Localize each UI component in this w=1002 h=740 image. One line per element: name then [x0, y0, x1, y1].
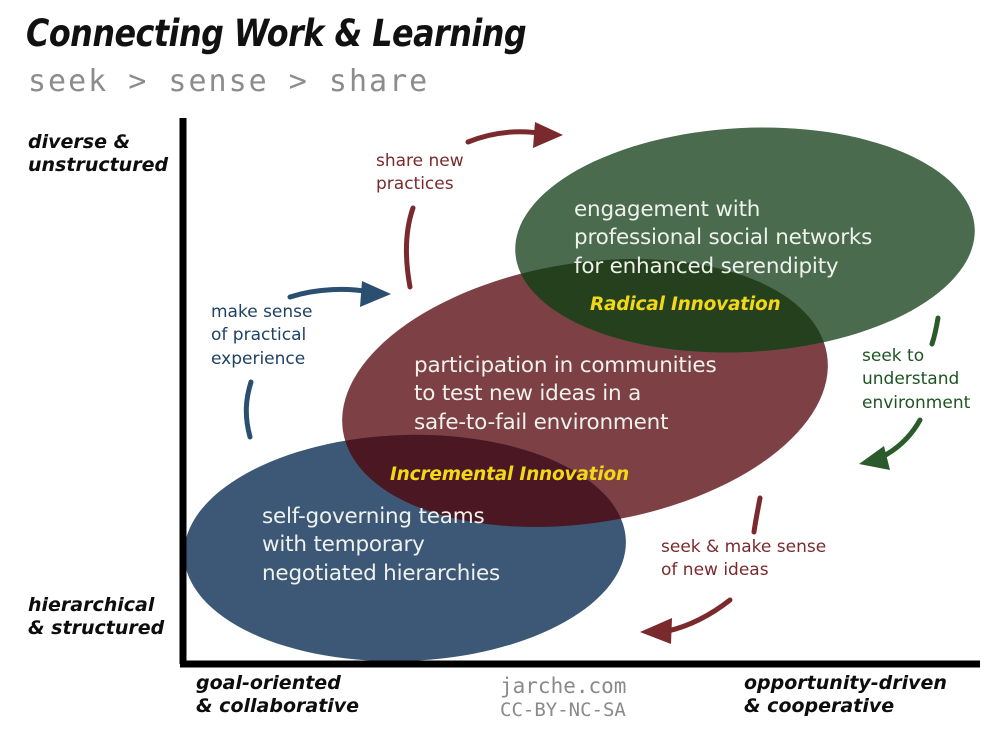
red-bubble-line-1: participation in communities: [414, 352, 716, 380]
y-axis-top-line-1: diverse &: [28, 131, 168, 154]
annotation-share-line-2: practices: [376, 173, 464, 196]
annotation-makesense-line-3: experience: [211, 348, 313, 371]
y-axis-bottom-label: hierarchical & structured: [28, 594, 164, 640]
blue-bubble-text: self-governing teams with temporary nego…: [262, 503, 500, 588]
x-axis-left-line-1: goal-oriented: [196, 672, 359, 695]
x-axis-right-line-2: & cooperative: [744, 695, 947, 718]
blue-bubble-line-3: negotiated hierarchies: [262, 560, 500, 588]
annotation-share-line-1: share new: [376, 150, 464, 173]
annotation-share-new-practices: share new practices: [376, 150, 464, 197]
annotation-makesense-line-1: make sense: [211, 301, 313, 324]
credit-license: CC-BY-NC-SA: [500, 699, 626, 723]
annotation-seekmake-line-1: seek & make sense: [661, 536, 826, 559]
annotation-seekunder-line-2: understand: [862, 368, 970, 391]
annotation-seekunder-line-1: seek to: [862, 345, 970, 368]
credit-block: jarche.com CC-BY-NC-SA: [500, 673, 626, 723]
diagram-canvas: Connecting Work & Learning seek > sense …: [0, 0, 1002, 740]
red-bubble-line-3: safe-to-fail environment: [414, 409, 716, 437]
annotation-seekunder-line-3: environment: [862, 392, 970, 415]
credit-site[interactable]: jarche.com: [500, 673, 626, 699]
blue-bubble-line-1: self-governing teams: [262, 503, 500, 531]
x-axis-left-line-2: & collaborative: [196, 695, 359, 718]
x-axis-right-label: opportunity-driven & cooperative: [744, 672, 947, 718]
annotation-seek-and-make-sense-of-new-ideas: seek & make sense of new ideas: [661, 536, 826, 583]
green-bubble-line-1: engagement with: [574, 196, 872, 224]
green-bubble-line-3: for enhanced serendipity: [574, 253, 872, 281]
y-axis-bottom-line-2: & structured: [28, 617, 164, 640]
annotation-seekmake-line-2: of new ideas: [661, 559, 826, 582]
y-axis-top-label: diverse & unstructured: [28, 131, 168, 177]
x-axis-left-label: goal-oriented & collaborative: [196, 672, 359, 718]
annotation-make-sense-of-practical-experience: make sense of practical experience: [211, 301, 313, 371]
incremental-innovation-badge: Incremental Innovation: [390, 464, 629, 485]
radical-innovation-badge: Radical Innovation: [590, 294, 781, 315]
annotation-makesense-line-2: of practical: [211, 324, 313, 347]
annotation-seek-to-understand-environment: seek to understand environment: [862, 345, 970, 415]
y-axis-bottom-line-1: hierarchical: [28, 594, 164, 617]
y-axis-top-line-2: unstructured: [28, 154, 168, 177]
blue-bubble-line-2: with temporary: [262, 531, 500, 559]
x-axis-right-line-1: opportunity-driven: [744, 672, 947, 695]
green-bubble-text: engagement with professional social netw…: [574, 196, 872, 281]
red-bubble-text: participation in communities to test new…: [414, 352, 716, 437]
red-bubble-line-2: to test new ideas in a: [414, 380, 716, 408]
green-bubble-line-2: professional social networks: [574, 224, 872, 252]
